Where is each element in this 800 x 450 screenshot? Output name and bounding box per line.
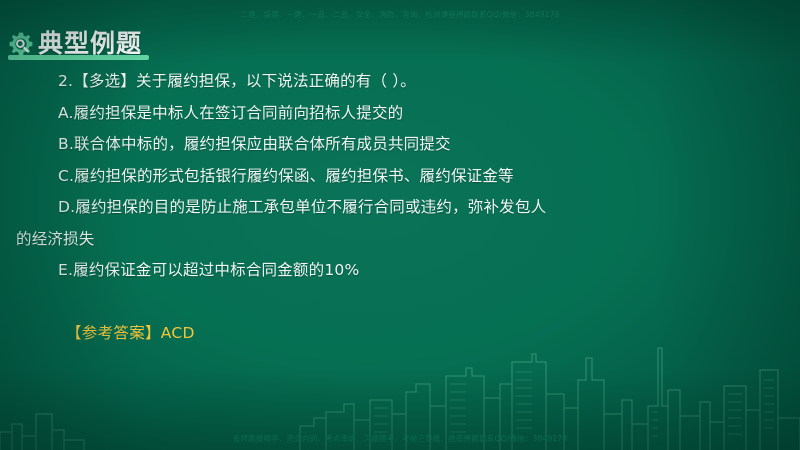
header: 典型例题 xyxy=(0,20,154,58)
option-b: B.联合体中标的，履约担保应由联合体所有成员共同提交 xyxy=(16,129,784,161)
promo-banner-top: 二建、监理、一建、一造、二造、安全、消防、咨询、检测课程押题联系QQ/微信：38… xyxy=(0,9,800,20)
gear-wrench-icon xyxy=(8,31,34,57)
question-block: 2.【多选】关于履约担保，以下说法正确的有（ ）。 A.履约担保是中标人在签订合… xyxy=(16,66,784,346)
header-inner: 典型例题 xyxy=(0,30,154,58)
header-underline xyxy=(8,55,149,60)
slide-canvas: 二建、监理、一建、一造、二造、安全、消防、咨询、检测课程押题联系QQ/微信：38… xyxy=(0,0,800,450)
option-e: E.履约保证金可以超过中标合同金额的10% xyxy=(16,255,784,287)
reference-answer: 【参考答案】ACD xyxy=(16,320,784,346)
question-stem: 2.【多选】关于履约担保，以下说法正确的有（ ）。 xyxy=(16,66,784,98)
option-a: A.履约担保是中标人在签订合同前向招标人提交的 xyxy=(16,98,784,130)
promo-banner-bottom: 名师面授精华、央企内训、考点串讲、习题模考、考前三页纸、绝密押题联系QQ/微信：… xyxy=(0,433,800,444)
page-title: 典型例题 xyxy=(38,30,142,58)
option-c: C.履约担保的形式包括银行履约保函、履约担保书、履约保证金等 xyxy=(16,161,784,193)
option-d: D.履约担保的目的是防止施工承包单位不履行合同或违约，弥补发包人 xyxy=(16,192,784,224)
option-d-continued: 的经济损失 xyxy=(16,224,784,256)
